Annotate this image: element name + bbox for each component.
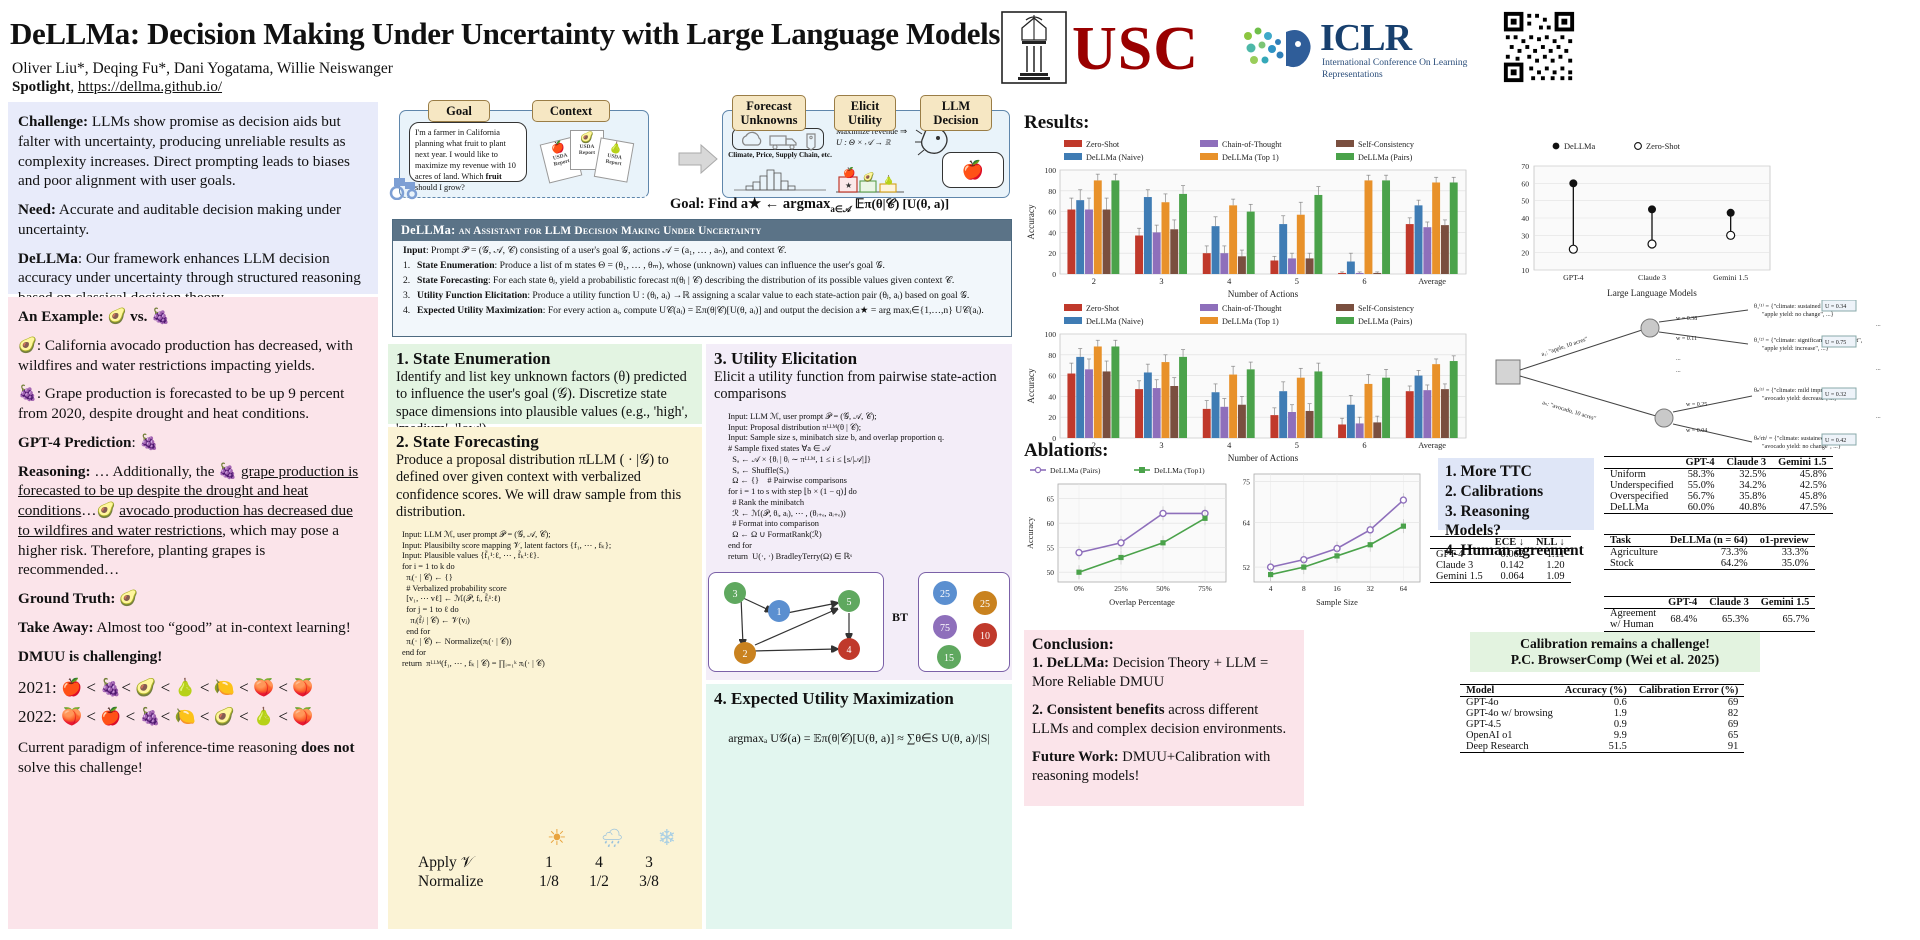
svg-text:Average: Average [1418,277,1446,286]
task-comparison-table: TaskDeLLMa (n = 64)o1-preview Agricultur… [1604,534,1815,570]
svg-text:64: 64 [1243,518,1251,527]
svg-text:Overlap Percentage: Overlap Percentage [1109,598,1175,607]
svg-text:2: 2 [743,649,748,660]
results-chart-top: Zero-ShotDeLLMa (Naive)Chain-of-ThoughtD… [1024,136,1472,300]
svg-text:Self-Consistency: Self-Consistency [1358,304,1415,313]
svg-text:0: 0 [1052,270,1056,279]
table-row: GPT-4.50.969 [1460,719,1744,730]
svg-text:Sample Size: Sample Size [1316,598,1358,607]
decision-tree-figure: θ₁⁽¹⁾ = {"climate: sustained drought", "… [1480,300,1910,460]
example-heading: An Example: 🥑 vs. 🍇 [18,307,368,327]
svg-text:25%: 25% [1114,584,1128,593]
step3-body: Elicit a utility function from pairwise … [714,369,1004,404]
sun-icon: ☀ [547,825,567,851]
step4-panel: 4. Expected Utility Maximization argmaxₐ… [706,684,1012,929]
ranked-nodes-box: 25 25 75 10 15 [918,572,1010,672]
step3-pseudocode: Input: LLM ℳ, user prompt 𝒫 = (𝒢, 𝒜, 𝒞);… [714,412,1004,563]
step3-graph-figure: 3 1 5 2 4 BT 25 25 75 10 15 [706,568,1012,678]
human-agreement-table: GPT-4Claude 3Gemini 1.5 Agreementw/ Huma… [1604,596,1815,632]
svg-text:★: ★ [845,181,852,190]
takeaway-label: Take Away: [18,619,94,636]
svg-text:10: 10 [1521,266,1529,275]
svg-text:60: 60 [1048,372,1056,381]
svg-text:20: 20 [1521,249,1529,258]
usda-report-doc-3: 🍐USDAReport [594,137,634,182]
step3-title: 3. Utility Elicitation [714,349,1004,369]
prediction-label: GPT-4 Prediction [18,434,131,451]
svg-text:🍐: 🍐 [883,174,894,185]
svg-text:DeLLMa (Pairs): DeLLMa (Pairs) [1358,317,1413,326]
page-title: DeLLMa: Decision Making Under Uncertaint… [10,16,1000,52]
algorithm-box: DeLLMa: an Assistant for LLM Decision Ma… [392,219,1012,337]
task-comparison-table-el: TaskDeLLMa (n = 64)o1-preview Agricultur… [1604,534,1815,570]
svg-text:5: 5 [847,597,852,608]
svg-text:Zero-Shot: Zero-Shot [1086,304,1120,313]
table-row: Agriculture73.3%33.3% [1604,547,1815,559]
svg-text:Gemini 1.5: Gemini 1.5 [1713,273,1748,282]
challenge-paragraph: Challenge: LLMs show promise as decision… [18,112,368,191]
spotlight-badge: Spotlight [12,79,70,95]
svg-text:...: ... [1876,413,1881,420]
svg-text:a₁: "apple, 10 acres": a₁: "apple, 10 acres" [1541,336,1589,358]
svg-text:10: 10 [980,631,990,642]
iclr-wordmark: ICLR [1320,16,1411,60]
svg-text:U = 0.75: U = 0.75 [1825,340,1846,346]
reasoning-label: Reasoning: [18,463,91,480]
svg-text:Accuracy: Accuracy [1026,368,1036,404]
flow-arrow-icon [677,142,719,176]
future-work-box: 1. More TTC 2. Calibrations 3. Reasoning… [1438,458,1594,530]
svg-text:"apple yield: no change", ...}: "apple yield: no change", ...} [1762,311,1834,318]
reasoning-paragraph: Reasoning: … Additionally, the 🍇 grape p… [18,462,368,581]
svg-text:1: 1 [777,607,782,618]
svg-text:DeLLMa (Top 1): DeLLMa (Top 1) [1222,153,1279,162]
diagram-tab-forecast: ForecastUnknowns [732,95,806,131]
table-row: Uniform58.3%32.5%45.8% [1604,469,1833,481]
need-text: Accurate and auditable decision making u… [18,201,341,238]
svg-text:3: 3 [1159,277,1163,286]
step1-title: 1. State Enumeration [396,349,694,369]
svg-text:4: 4 [1269,584,1273,593]
svg-text:70: 70 [1521,162,1529,171]
conclusion-title: Conclusion: [1032,636,1296,654]
svg-text:aₙ: "avocado, 10 acres": aₙ: "avocado, 10 acres" [1541,400,1597,422]
norm-val-2: 1/2 [574,873,624,891]
specification-table: GPT-4Claude 3Gemini 1.5 Uniform58.3%32.5… [1604,456,1833,514]
svg-text:55: 55 [1047,544,1055,553]
need-paragraph: Need: Accurate and auditable decision ma… [18,200,368,240]
svg-text:DeLLMa (Top1): DeLLMa (Top1) [1154,466,1205,475]
svg-text:Average: Average [1418,441,1446,450]
norm-val-3: 3/8 [624,873,674,891]
svg-text:U = 0.34: U = 0.34 [1825,304,1846,310]
closing-statement: Current paradigm of inference-time reaso… [18,738,368,778]
prediction-value: : 🍇 [131,434,158,451]
specification-table-el: GPT-4Claude 3Gemini 1.5 Uniform58.3%32.5… [1604,456,1833,514]
svg-text:16: 16 [1333,584,1341,593]
svg-text:60: 60 [1048,208,1056,217]
calibration-table: ModelAccuracy (%)Calibration Error (%) G… [1460,684,1744,753]
step4-formula: argmaxₐ U𝒢(a) = 𝔼π(θ|𝒞)[U(θ, a)] ≈ ∑θ∈S … [714,731,1004,746]
farmer-speech-bubble: I'm a farmer in California planning what… [409,122,527,182]
svg-text:...: ... [1676,355,1681,362]
takeaway-text: Almost too “good” at in-context learning… [94,619,351,636]
table-row: Agreementw/ Human 68.4%65.3%65.7% [1604,609,1815,632]
calibration-note-line-2: P.C. BrowserComp (Wei et al. 2025) [1476,652,1754,668]
algorithm-step-2: 2.State Forecasting: For each state θⱼ, … [393,271,1011,286]
forecast-caption: Climate, Price, Supply Chain, etc. [728,151,832,159]
svg-text:w = 0.04: w = 0.04 [1686,428,1707,434]
svg-text:U = 0.32: U = 0.32 [1825,392,1846,398]
ece-nll-table: ECE ↓NLL ↓ GPT-40.0621.11 Claude 30.1421… [1430,536,1571,583]
ablations-heading: Ablations: [1024,440,1108,462]
svg-text:64: 64 [1400,584,1408,593]
usc-shield-logo [1000,10,1068,85]
svg-text:52: 52 [1243,563,1251,572]
table-row: Claude 30.1421.20 [1430,560,1571,571]
tractor-icon [388,174,422,200]
pairwise-graph-box: 3 1 5 2 4 [708,572,884,672]
pipeline-diagram: Goal Context I'm a farmer in California … [392,96,1012,206]
grape-fact: 🍇: Grape production is forecasted to be … [18,384,368,424]
svg-text:50: 50 [1047,568,1055,577]
dmuu-challenging: DMUU is challenging! [18,647,368,667]
iclr-subtitle: International Conference On Learning Rep… [1322,58,1482,82]
svg-text:5: 5 [1295,277,1299,286]
svg-text:30: 30 [1521,231,1529,240]
algorithm-step-3: 3.Utility Function Elicitation: Produce … [393,286,1011,301]
goal-formula: Goal: Find a★ ← argmaxa∈𝒜 𝔼π(θ|𝒞) [U(θ, … [670,196,949,215]
ranking-2022: 2022: 🍑 < 🍎 < 🍇< 🍋 < 🥑 < 🍐 < 🍑 [18,704,368,730]
ranking-2021: 2021: 🍎 < 🍇< 🥑 < 🍐 < 🍋 < 🍑 < 🍑 [18,675,368,701]
svg-text:40: 40 [1048,392,1056,401]
range-chart-svg: DeLLMaZero-Shot10203040506070GPT-4Claude… [1490,136,1780,300]
snow-icon: ❄ [658,825,676,851]
conclusion-panel: Conclusion: 1. DeLLMa: Decision Theory +… [1024,630,1304,806]
conclusion-line-1: 1. DeLLMa: Decision Theory + LLM = More … [1032,654,1296,692]
svg-text:3: 3 [733,589,738,600]
svg-text:Large Language Models: Large Language Models [1607,288,1697,298]
svg-text:...: ... [1876,365,1881,372]
svg-text:6: 6 [1362,277,1366,286]
svg-text:DeLLMa: DeLLMa [1564,142,1595,151]
svg-text:DeLLMa (Naive): DeLLMa (Naive) [1086,317,1144,326]
svg-text:20: 20 [1048,249,1056,258]
svg-text:DeLLMa (Naive): DeLLMa (Naive) [1086,153,1144,162]
table-row: GPT-40.0621.11 [1430,549,1571,561]
intro-panel: Challenge: LLMs show promise as decision… [8,102,378,294]
norm-val-1: 1/8 [524,873,574,891]
svg-text:60: 60 [1521,179,1529,188]
svg-text:Claude 3: Claude 3 [1638,273,1666,282]
svg-text:60: 60 [1047,519,1055,528]
svg-text:Zero-Shot: Zero-Shot [1646,142,1681,151]
svg-text:w = 0.25: w = 0.25 [1686,402,1707,408]
svg-text:65: 65 [1047,495,1055,504]
author-list: Oliver Liu*, Deqing Fu*, Dani Yogatama, … [12,60,393,78]
svg-text:Number of Actions: Number of Actions [1228,289,1299,299]
diagram-tab-llm-decision: LLMDecision [920,95,992,131]
table-row: GPT-4o0.669 [1460,697,1744,709]
step2-pseudocode: Input: LLM ℳ, user prompt 𝒫 = (𝒢, 𝒜, 𝒞);… [396,530,694,670]
gpt-range-chart: DeLLMaZero-Shot10203040506070GPT-4Claude… [1490,136,1780,300]
svg-text:w = 0.11: w = 0.11 [1676,336,1697,342]
apply-val-1: 1 [524,854,574,872]
svg-text:75: 75 [1243,477,1251,486]
svg-text:25: 25 [980,599,990,610]
step4-title: 4. Expected Utility Maximization [714,689,1004,709]
need-label: Need: [18,201,56,218]
challenge-label: Challenge: [18,113,88,130]
svg-text:50: 50 [1521,197,1529,206]
svg-text:3: 3 [1159,441,1163,450]
algorithm-input: Input: Prompt 𝒫 = (𝒢, 𝒜, 𝒞) consisting o… [393,241,1011,256]
ece-nll-table-el: ECE ↓NLL ↓ GPT-40.0621.11 Claude 30.1421… [1430,536,1571,583]
rain-icon: 🌧 [601,828,624,849]
svg-text:...: ... [1876,321,1881,328]
svg-text:32: 32 [1367,584,1375,593]
apply-label: Apply 𝒱 [418,854,524,872]
svg-text:Zero-Shot: Zero-Shot [1086,140,1120,149]
spotlight-line: Spotlight, https://dellma.github.io/ [12,79,222,96]
svg-text:w = 0.38: w = 0.38 [1676,316,1697,322]
svg-text:8: 8 [1302,584,1306,593]
ground-truth: Ground Truth: 🥑 [18,589,368,609]
qr-code[interactable] [1500,8,1578,86]
algorithm-step-1: 1.State Enumeration: Produce a list of m… [393,256,1011,271]
table-row: Underspecified55.0%34.2%42.5% [1604,480,1833,491]
conclusion-line-3: Future Work: DMUU+Calibration with reaso… [1032,748,1296,786]
svg-text:100: 100 [1045,166,1057,175]
apply-val-3: 3 [624,854,674,872]
algorithm-title: DeLLMa: an Assistant for LLM Decision Ma… [393,220,1011,241]
dellma-label: DeLLMa [18,250,78,267]
avocado-fact: 🥑: California avocado production has dec… [18,336,368,376]
step2-weather-table: ☀ 🌧 ❄ Apply 𝒱 1 4 3 Normalize 1/8 1/2 3/… [418,825,676,891]
diagram-tab-goal: Goal [428,100,490,122]
svg-text:25: 25 [940,589,950,600]
takeaway: Take Away: Almost too “good” at in-conte… [18,618,368,638]
svg-text:Chain-of-Thought: Chain-of-Thought [1222,140,1282,149]
future-item-2: 2. Calibrations [1445,482,1587,502]
ground-truth-label: Ground Truth: [18,590,116,607]
future-item-1: 1. More TTC [1445,462,1587,482]
results-heading: Results: [1024,112,1089,134]
utility-bars-icon: ★ 🍎 🥑 🍐 [834,152,906,196]
svg-text:100: 100 [1045,330,1057,339]
ablation-overlap-chart: DeLLMa (Pairs)DeLLMa (Top1)505560650%25%… [1024,462,1234,608]
calibration-note-line-1: Calibration remains a challenge! [1476,636,1754,652]
svg-text:5: 5 [1295,441,1299,450]
usc-wordmark: USC [1072,14,1199,85]
svg-text:Self-Consistency: Self-Consistency [1358,140,1415,149]
svg-text:80: 80 [1048,351,1056,360]
svg-text:15: 15 [944,653,954,664]
svg-text:0%: 0% [1074,584,1084,593]
table-row: GPT-4o w/ browsing1.982 [1460,708,1744,719]
svg-text:DeLLMa (Pairs): DeLLMa (Pairs) [1050,466,1101,475]
algorithm-step-4: 4.Expected Utility Maximization: For eve… [393,301,1011,316]
example-panel: An Example: 🥑 vs. 🍇 🥑: California avocad… [8,297,378,929]
table-row: Gemini 1.50.0641.09 [1430,571,1571,583]
bar-chart-top-svg: Zero-ShotDeLLMa (Naive)Chain-of-ThoughtD… [1024,136,1472,300]
poster-header: DeLLMa: Decision Making Under Uncertaint… [0,0,1920,96]
svg-text:...: ... [1676,367,1681,374]
calibration-note: Calibration remains a challenge! P.C. Br… [1470,632,1760,672]
table-row: Overspecified56.7%35.8%45.8% [1604,491,1833,502]
svg-text:4: 4 [847,645,852,656]
step1-panel: 1. State Enumeration Identify and list k… [388,344,702,424]
step2-panel: 2. State Forecasting Produce a proposal … [388,427,702,929]
svg-text:40: 40 [1048,228,1056,237]
svg-text:DeLLMa (Pairs): DeLLMa (Pairs) [1358,153,1413,162]
svg-text:DeLLMa (Top 1): DeLLMa (Top 1) [1222,317,1279,326]
svg-text:Accuracy: Accuracy [1026,204,1036,240]
svg-text:75: 75 [940,623,950,634]
svg-text:2: 2 [1092,277,1096,286]
iclr-brain-icon [1238,22,1316,74]
svg-text:"apple yield: increase", ...}: "apple yield: increase", ...} [1762,345,1829,352]
forecast-icon-row [732,128,824,150]
step3-panel: 3. Utility Elicitation Elicit a utility … [706,344,1012,680]
table-row: Deep Research51.591 [1460,741,1744,753]
svg-text:🥑: 🥑 [863,171,874,182]
svg-text:75%: 75% [1198,584,1212,593]
svg-text:GPT-4: GPT-4 [1563,273,1584,282]
gpt4-prediction: GPT-4 Prediction: 🍇 [18,433,368,453]
table-row: DeLLMa60.0%40.8%47.5% [1604,502,1833,514]
svg-text:20: 20 [1048,413,1056,422]
apply-val-2: 4 [574,854,624,872]
svg-text:🍎: 🍎 [843,166,855,179]
svg-text:Chain-of-Thought: Chain-of-Thought [1222,304,1282,313]
diagram-tab-elicit: ElicitUtility [834,95,896,131]
human-agreement-table-el: GPT-4Claude 3Gemini 1.5 Agreementw/ Huma… [1604,596,1815,632]
llm-decision-bubble: 🍎 [942,152,1004,188]
svg-text:40: 40 [1521,214,1529,223]
svg-text:4: 4 [1227,277,1232,286]
table-row: Stock64.2%35.0% [1604,558,1815,570]
diagram-tab-context: Context [532,100,610,122]
svg-text:80: 80 [1048,187,1056,196]
svg-text:Accuracy: Accuracy [1026,516,1035,549]
svg-text:U = 0.42: U = 0.42 [1825,438,1846,444]
bt-label: BT [892,610,908,625]
step2-title: 2. State Forecasting [396,432,694,452]
svg-text:50%: 50% [1156,584,1170,593]
ground-truth-value: 🥑 [116,590,139,607]
ablation-sample-chart: 52647548163264Sample Size [1228,462,1428,608]
normalize-label: Normalize [418,873,524,891]
table-row: OpenAI o19.965 [1460,730,1744,741]
calibration-table-el: ModelAccuracy (%)Calibration Error (%) G… [1460,684,1744,753]
svg-text:4: 4 [1227,441,1232,450]
svg-text:6: 6 [1362,441,1366,450]
project-url-link[interactable]: https://dellma.github.io/ [78,79,222,95]
conclusion-line-2: 2. Consistent benefits across different … [1032,701,1296,739]
step2-body: Produce a proposal distribution πLLM ( ·… [396,452,694,522]
forecast-histogram [732,160,828,194]
